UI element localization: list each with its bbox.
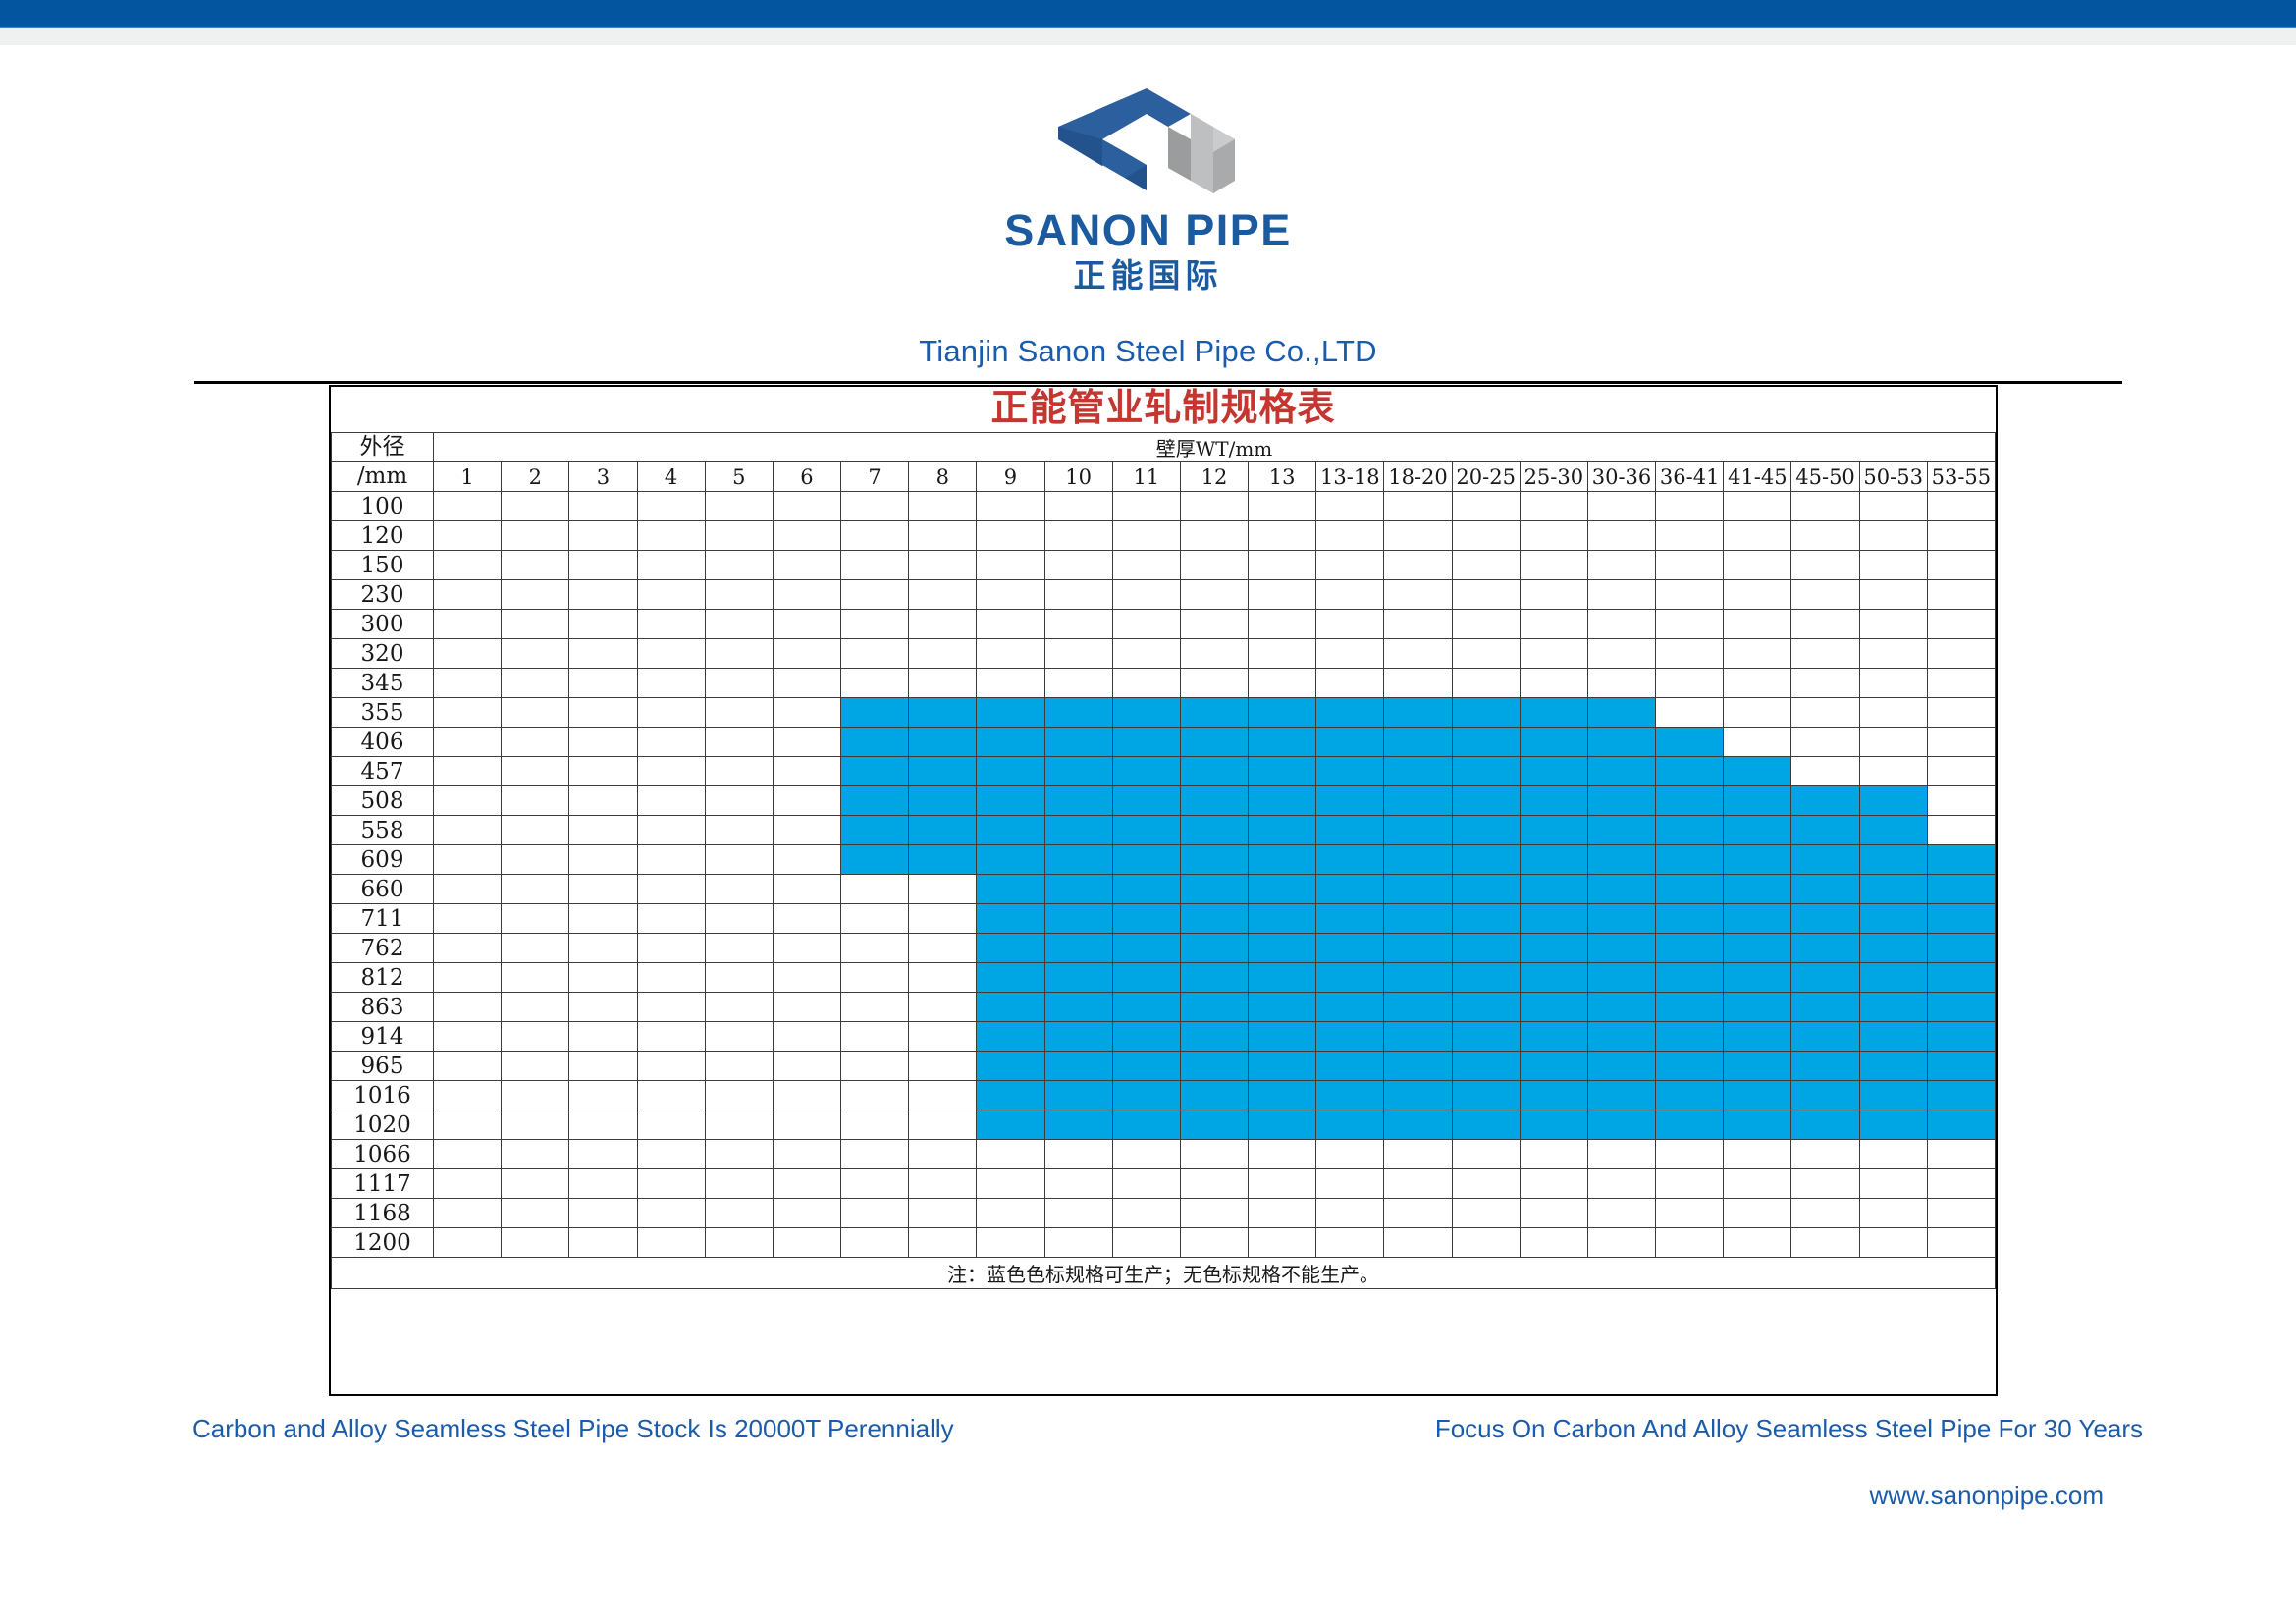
spec-cell-available [1316,786,1384,816]
spec-cell-unavailable [1927,757,1995,786]
spec-cell-unavailable [502,551,569,580]
wt-column-header: 10 [1044,462,1112,492]
wt-column-header: 45-50 [1791,462,1859,492]
spec-cell-unavailable [1587,610,1655,639]
table-row: 230 [332,580,1996,610]
spec-cell-available [1180,728,1248,757]
spec-cell-available [1724,1052,1791,1081]
spec-cell-unavailable [1927,728,1995,757]
spec-cell-unavailable [1180,669,1248,698]
spec-cell-unavailable [1927,492,1995,521]
spec-cell-available [1180,1052,1248,1081]
spec-cell-unavailable [1656,492,1724,521]
spec-cell-unavailable [909,1228,977,1258]
spec-cell-available [977,963,1044,993]
spec-cell-unavailable [1859,757,1927,786]
spec-cell-unavailable [1384,521,1452,551]
spec-table-frame: 外径 壁厚WT/mm /mm 1234567891011121313-1818-… [329,385,1998,1396]
spec-cell-unavailable [1384,1169,1452,1199]
spec-cell-unavailable [705,816,773,845]
spec-cell-available [1316,1022,1384,1052]
spec-cell-unavailable [773,698,840,728]
spec-cell-unavailable [977,521,1044,551]
spec-cell-unavailable [705,757,773,786]
spec-cell-unavailable [1452,639,1520,669]
spec-cell-unavailable [773,1110,840,1140]
spec-cell-available [909,698,977,728]
spec-cell-unavailable [1384,551,1452,580]
spec-cell-available [1044,816,1112,845]
spec-cell-available [1180,904,1248,934]
spec-cell-available [1520,1110,1587,1140]
spec-cell-available [1791,904,1859,934]
spec-cell-available [977,875,1044,904]
spec-cell-unavailable [569,1052,637,1081]
table-row: 355 [332,698,1996,728]
od-row-label: 1200 [332,1228,434,1258]
table-row: 1200 [332,1228,1996,1258]
spec-cell-unavailable [705,639,773,669]
spec-cell-unavailable [773,1199,840,1228]
spec-cell-unavailable [1520,610,1587,639]
logo-wordmark: SANON PIPE [1004,208,1292,252]
spec-cell-unavailable [502,610,569,639]
spec-cell-unavailable [637,904,705,934]
table-title: 正能管业轧制规格表 [329,386,1998,429]
spec-cell-available [1587,698,1655,728]
spec-cell-unavailable [1724,669,1791,698]
spec-cell-unavailable [977,1169,1044,1199]
spec-cell-available [1724,993,1791,1022]
spec-cell-unavailable [909,492,977,521]
spec-cell-available [1180,934,1248,963]
spec-cell-available [1927,1052,1995,1081]
table-row: 1117 [332,1169,1996,1199]
spec-cell-unavailable [434,1022,502,1052]
spec-cell-unavailable [1180,1199,1248,1228]
spec-cell-available [1452,728,1520,757]
footer-website-url[interactable]: www.sanonpipe.com [1870,1481,2104,1511]
spec-cell-unavailable [841,1140,909,1169]
spec-cell-unavailable [773,669,840,698]
od-header-top: 外径 [332,433,434,462]
spec-cell-available [1587,993,1655,1022]
spec-cell-unavailable [1587,1140,1655,1169]
spec-cell-unavailable [1791,1140,1859,1169]
spec-cell-available [1249,875,1316,904]
spec-cell-available [1927,1110,1995,1140]
spec-cell-available [1520,1022,1587,1052]
spec-cell-unavailable [773,1169,840,1199]
spec-cell-available [1044,728,1112,757]
spec-cell-unavailable [1044,639,1112,669]
spec-cell-available [1452,993,1520,1022]
table-row: 300 [332,610,1996,639]
spec-cell-available [1112,875,1180,904]
spec-cell-unavailable [569,757,637,786]
spec-cell-unavailable [909,669,977,698]
od-row-label: 355 [332,698,434,728]
spec-cell-unavailable [637,1110,705,1140]
spec-cell-unavailable [502,904,569,934]
spec-cell-unavailable [502,728,569,757]
spec-cell-available [1112,816,1180,845]
wt-column-header: 25-30 [1520,462,1587,492]
spec-cell-available [1520,728,1587,757]
spec-cell-unavailable [569,875,637,904]
spec-cell-unavailable [841,1081,909,1110]
spec-cell-unavailable [909,551,977,580]
spec-cell-unavailable [1384,669,1452,698]
spec-cell-unavailable [637,1140,705,1169]
od-row-label: 762 [332,934,434,963]
spec-cell-available [1112,845,1180,875]
spec-cell-unavailable [841,934,909,963]
spec-cell-unavailable [1927,551,1995,580]
spec-cell-available [1859,963,1927,993]
spec-cell-unavailable [1927,610,1995,639]
spec-cell-available [1249,1022,1316,1052]
spec-cell-unavailable [1927,816,1995,845]
spec-cell-available [1044,698,1112,728]
spec-cell-available [1112,993,1180,1022]
spec-cell-available [1656,757,1724,786]
od-row-label: 1117 [332,1169,434,1199]
spec-cell-available [1316,845,1384,875]
spec-cell-unavailable [434,639,502,669]
wt-column-header: 8 [909,462,977,492]
spec-cell-unavailable [569,1228,637,1258]
spec-cell-available [1724,963,1791,993]
spec-cell-unavailable [1724,580,1791,610]
spec-cell-available [1587,1081,1655,1110]
spec-cell-unavailable [705,669,773,698]
spec-cell-unavailable [1587,521,1655,551]
od-row-label: 1020 [332,1110,434,1140]
spec-cell-available [1180,963,1248,993]
spec-cell-available [977,934,1044,963]
spec-cell-available [1927,1081,1995,1110]
spec-cell-available [1656,816,1724,845]
spec-cell-available [1859,786,1927,816]
spec-cell-available [1791,875,1859,904]
wt-column-header: 41-45 [1724,462,1791,492]
spec-cell-unavailable [1112,1228,1180,1258]
spec-cell-unavailable [1791,728,1859,757]
spec-cell-available [1180,757,1248,786]
spec-cell-unavailable [569,1169,637,1199]
od-row-label: 863 [332,993,434,1022]
spec-cell-unavailable [705,610,773,639]
spec-cell-unavailable [1452,669,1520,698]
spec-cell-available [909,786,977,816]
spec-cell-unavailable [841,1169,909,1199]
spec-cell-available [1316,698,1384,728]
table-row: 914 [332,1022,1996,1052]
spec-cell-unavailable [1249,492,1316,521]
spec-cell-unavailable [705,875,773,904]
spec-cell-unavailable [841,610,909,639]
spec-cell-available [1656,1081,1724,1110]
spec-cell-unavailable [434,1140,502,1169]
spec-cell-available [1316,1110,1384,1140]
spec-cell-unavailable [705,963,773,993]
spec-cell-unavailable [569,845,637,875]
spec-cell-available [1316,816,1384,845]
spec-cell-available [1791,1110,1859,1140]
spec-cell-available [909,728,977,757]
od-row-label: 914 [332,1022,434,1052]
spec-cell-unavailable [434,1052,502,1081]
spec-cell-unavailable [1044,1199,1112,1228]
od-row-label: 230 [332,580,434,610]
spec-cell-unavailable [773,993,840,1022]
spec-cell-unavailable [502,845,569,875]
spec-cell-available [1452,786,1520,816]
wt-column-header: 6 [773,462,840,492]
table-row: 863 [332,993,1996,1022]
logo-chinese-name: 正能国际 [1074,259,1223,292]
spec-cell-unavailable [841,580,909,610]
spec-cell-available [1384,698,1452,728]
spec-cell-available [1587,728,1655,757]
spec-cell-unavailable [1249,1199,1316,1228]
spec-cell-available [1859,1110,1927,1140]
spec-cell-unavailable [909,521,977,551]
spec-cell-available [1384,757,1452,786]
spec-cell-unavailable [841,1022,909,1052]
spec-cell-available [1316,963,1384,993]
spec-cell-unavailable [705,1228,773,1258]
spec-cell-unavailable [1384,639,1452,669]
spec-cell-unavailable [1180,521,1248,551]
spec-cell-available [1249,993,1316,1022]
spec-cell-unavailable [909,610,977,639]
spec-cell-available [1724,1110,1791,1140]
spec-cell-unavailable [1859,698,1927,728]
spec-cell-unavailable [1316,1199,1384,1228]
spec-cell-unavailable [1859,669,1927,698]
spec-cell-available [1384,1110,1452,1140]
spec-cell-unavailable [1249,1169,1316,1199]
spec-cell-available [1656,934,1724,963]
spec-cell-unavailable [637,757,705,786]
note-row: 注：蓝色色标规格可生产；无色标规格不能生产。 [332,1258,1996,1289]
table-row: 457 [332,757,1996,786]
spec-cell-unavailable [1044,492,1112,521]
spec-cell-unavailable [977,1228,1044,1258]
spec-cell-available [977,786,1044,816]
spec-cell-unavailable [1180,580,1248,610]
spec-cell-unavailable [1180,492,1248,521]
spec-cell-unavailable [1180,1228,1248,1258]
table-row: 406 [332,728,1996,757]
spec-cell-available [841,698,909,728]
spec-cell-unavailable [841,993,909,1022]
spec-cell-unavailable [1520,1140,1587,1169]
od-row-label: 300 [332,610,434,639]
footer-tagline-left: Carbon and Alloy Seamless Steel Pipe Sto… [192,1414,954,1444]
od-header-unit: /mm [332,462,434,492]
spec-cell-available [1316,728,1384,757]
spec-cell-available [1044,993,1112,1022]
spec-cell-unavailable [569,816,637,845]
spec-cell-available [841,786,909,816]
od-row-label: 120 [332,521,434,551]
spec-cell-unavailable [1859,1228,1927,1258]
spec-cell-available [1520,816,1587,845]
spec-cell-unavailable [1656,610,1724,639]
spec-cell-available [1927,904,1995,934]
spec-cell-unavailable [1249,521,1316,551]
spec-cell-available [1044,786,1112,816]
spec-cell-unavailable [1927,1169,1995,1199]
spec-cell-unavailable [909,1110,977,1140]
note-text: 注：蓝色色标规格可生产；无色标规格不能生产。 [332,1258,1996,1289]
spec-cell-available [1520,1081,1587,1110]
table-row: 1016 [332,1081,1996,1110]
spec-cell-unavailable [841,551,909,580]
spec-cell-unavailable [773,1081,840,1110]
spec-cell-unavailable [569,698,637,728]
spec-cell-unavailable [705,551,773,580]
spec-cell-available [1587,963,1655,993]
rolling-spec-table: 外径 壁厚WT/mm /mm 1234567891011121313-1818-… [331,432,1996,1289]
od-row-label: 1066 [332,1140,434,1169]
spec-cell-unavailable [705,786,773,816]
spec-cell-unavailable [1927,639,1995,669]
spec-cell-unavailable [637,963,705,993]
spec-cell-unavailable [1180,639,1248,669]
spec-cell-unavailable [705,1110,773,1140]
spec-cell-unavailable [773,580,840,610]
spec-cell-unavailable [1316,1228,1384,1258]
spec-cell-available [1656,1052,1724,1081]
spec-cell-available [1859,816,1927,845]
spec-cell-unavailable [841,875,909,904]
spec-table-body: 1001201502303003203453554064575085586096… [332,492,1996,1258]
spec-cell-available [1180,816,1248,845]
spec-table-head-row-2: /mm 1234567891011121313-1818-2020-2525-3… [332,462,1996,492]
spec-cell-available [1452,698,1520,728]
spec-cell-unavailable [434,993,502,1022]
spec-cell-unavailable [637,669,705,698]
spec-cell-available [1316,875,1384,904]
spec-cell-unavailable [637,728,705,757]
spec-cell-available [977,845,1044,875]
spec-cell-unavailable [1520,669,1587,698]
spec-cell-unavailable [1724,521,1791,551]
od-row-label: 711 [332,904,434,934]
spec-cell-unavailable [1724,1140,1791,1169]
spec-cell-unavailable [773,521,840,551]
spec-cell-available [1316,1052,1384,1081]
spec-cell-unavailable [705,845,773,875]
od-row-label: 345 [332,669,434,698]
spec-cell-available [1791,816,1859,845]
spec-cell-available [1859,875,1927,904]
spec-cell-unavailable [434,786,502,816]
table-row: 812 [332,963,1996,993]
spec-cell-unavailable [773,551,840,580]
spec-cell-unavailable [1112,580,1180,610]
spec-cell-available [1316,757,1384,786]
spec-cell-available [1249,904,1316,934]
od-row-label: 100 [332,492,434,521]
spec-cell-available [1452,1081,1520,1110]
spec-cell-available [1044,1081,1112,1110]
spec-cell-unavailable [502,786,569,816]
spec-cell-unavailable [977,492,1044,521]
spec-cell-available [1044,963,1112,993]
spec-cell-available [1927,934,1995,963]
spec-cell-available [1180,993,1248,1022]
spec-cell-unavailable [569,610,637,639]
spec-cell-available [1180,1081,1248,1110]
spec-cell-unavailable [1859,1169,1927,1199]
spec-cell-unavailable [434,698,502,728]
spec-cell-available [1249,698,1316,728]
spec-cell-unavailable [705,1169,773,1199]
spec-cell-available [1724,904,1791,934]
spec-cell-unavailable [637,492,705,521]
spec-cell-unavailable [1791,580,1859,610]
spec-cell-available [1520,963,1587,993]
spec-cell-available [1791,993,1859,1022]
wt-column-header: 2 [502,462,569,492]
spec-cell-available [1587,904,1655,934]
spec-cell-unavailable [502,963,569,993]
spec-cell-unavailable [502,1052,569,1081]
spec-cell-unavailable [1724,610,1791,639]
wall-thickness-header: 壁厚WT/mm [434,433,1996,462]
spec-cell-unavailable [569,1140,637,1169]
spec-cell-unavailable [1587,1228,1655,1258]
spec-cell-available [1112,963,1180,993]
spec-cell-unavailable [569,963,637,993]
spec-cell-unavailable [1452,492,1520,521]
spec-cell-available [977,1110,1044,1140]
spec-cell-unavailable [1656,1140,1724,1169]
spec-cell-unavailable [1656,1228,1724,1258]
spec-cell-available [1791,1022,1859,1052]
spec-cell-unavailable [1656,1199,1724,1228]
spec-cell-unavailable [773,904,840,934]
table-row: 120 [332,521,1996,551]
spec-cell-available [1520,993,1587,1022]
spec-cell-available [1587,845,1655,875]
spec-cell-available [1384,934,1452,963]
spec-cell-unavailable [502,1228,569,1258]
spec-cell-unavailable [1656,580,1724,610]
wt-column-header: 20-25 [1452,462,1520,492]
wt-column-header: 18-20 [1384,462,1452,492]
wt-column-header: 53-55 [1927,462,1995,492]
spec-cell-unavailable [569,904,637,934]
spec-cell-available [1384,786,1452,816]
spec-cell-unavailable [502,669,569,698]
spec-cell-available [977,1081,1044,1110]
spec-cell-available [909,816,977,845]
spec-cell-available [977,993,1044,1022]
spec-cell-unavailable [1587,669,1655,698]
spec-cell-unavailable [434,1199,502,1228]
spec-cell-available [841,757,909,786]
spec-cell-unavailable [1249,669,1316,698]
spec-cell-unavailable [773,1140,840,1169]
od-row-label: 660 [332,875,434,904]
spec-cell-available [1044,875,1112,904]
